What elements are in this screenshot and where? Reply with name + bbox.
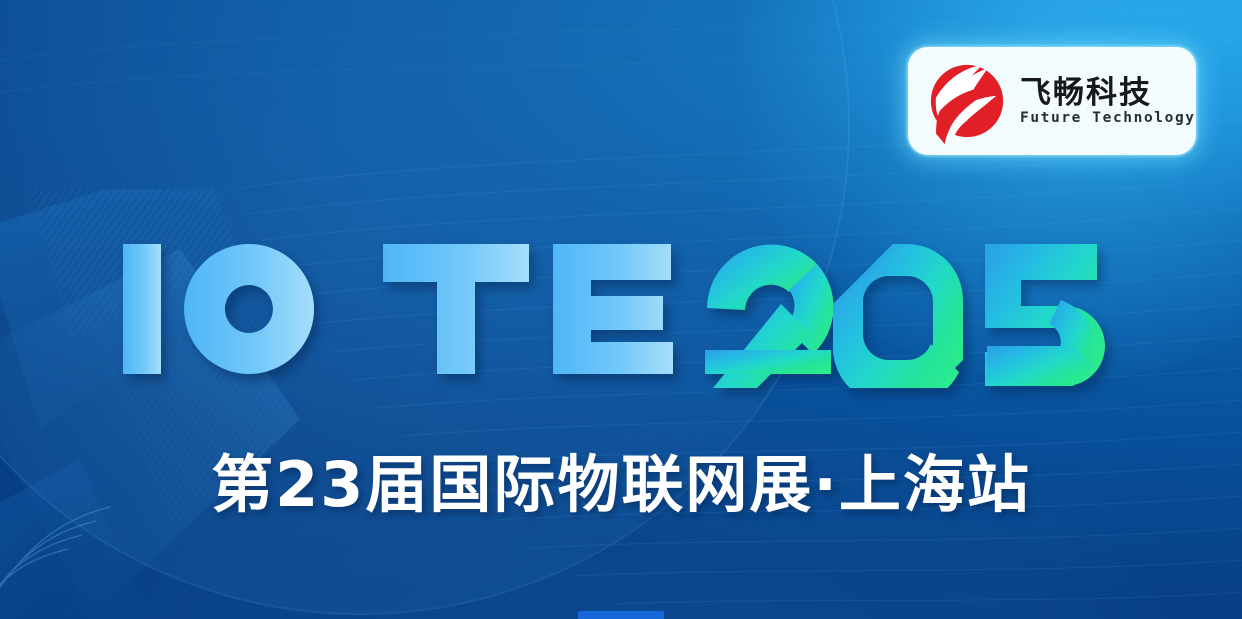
page-subtitle: 第23届国际物联网展·上海站 bbox=[0, 452, 1242, 517]
iote-letters bbox=[123, 244, 673, 374]
logo-text-block: 飞畅科技 Future Technology bbox=[1020, 75, 1196, 127]
iote-2025-banner: 飞畅科技 Future Technology bbox=[0, 0, 1242, 619]
iote-2025-logotype bbox=[121, 238, 1121, 388]
logo-name-en: Future Technology bbox=[1020, 111, 1196, 127]
company-logo-badge[interactable]: 飞畅科技 Future Technology bbox=[908, 47, 1196, 155]
wordmark bbox=[0, 238, 1242, 388]
fly-bird-circle-icon bbox=[924, 58, 1010, 144]
bottom-accent-bar bbox=[578, 611, 664, 619]
year-digits bbox=[705, 244, 1105, 388]
logo-name-cn: 飞畅科技 bbox=[1020, 77, 1196, 110]
